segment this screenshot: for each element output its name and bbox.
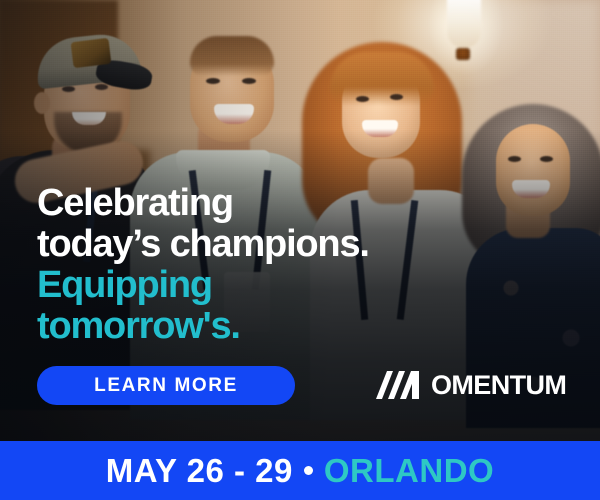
event-date: MAY 26 - 29 xyxy=(106,452,293,490)
headline-line-2: today’s champions. xyxy=(37,224,597,265)
headline-line-3: Equipping xyxy=(37,265,597,306)
event-city: ORLANDO xyxy=(324,452,494,490)
momentum-banner-ad: Celebrating today’s champions. Equipping… xyxy=(0,0,600,500)
momentum-logo[interactable]: OMENTUM xyxy=(376,369,566,401)
headline: Celebrating today’s champions. Equipping… xyxy=(37,183,597,347)
headline-line-4: tomorrow's. xyxy=(37,306,597,347)
ad-content: Celebrating today’s champions. Equipping… xyxy=(0,0,600,500)
learn-more-button[interactable]: LEARN MORE xyxy=(37,366,295,405)
separator-dot-icon xyxy=(304,466,313,475)
headline-line-1: Celebrating xyxy=(37,183,597,224)
event-details-bar: MAY 26 - 29 ORLANDO xyxy=(0,441,600,500)
momentum-m-mark-icon xyxy=(376,371,428,399)
momentum-wordmark: OMENTUM xyxy=(431,372,566,399)
